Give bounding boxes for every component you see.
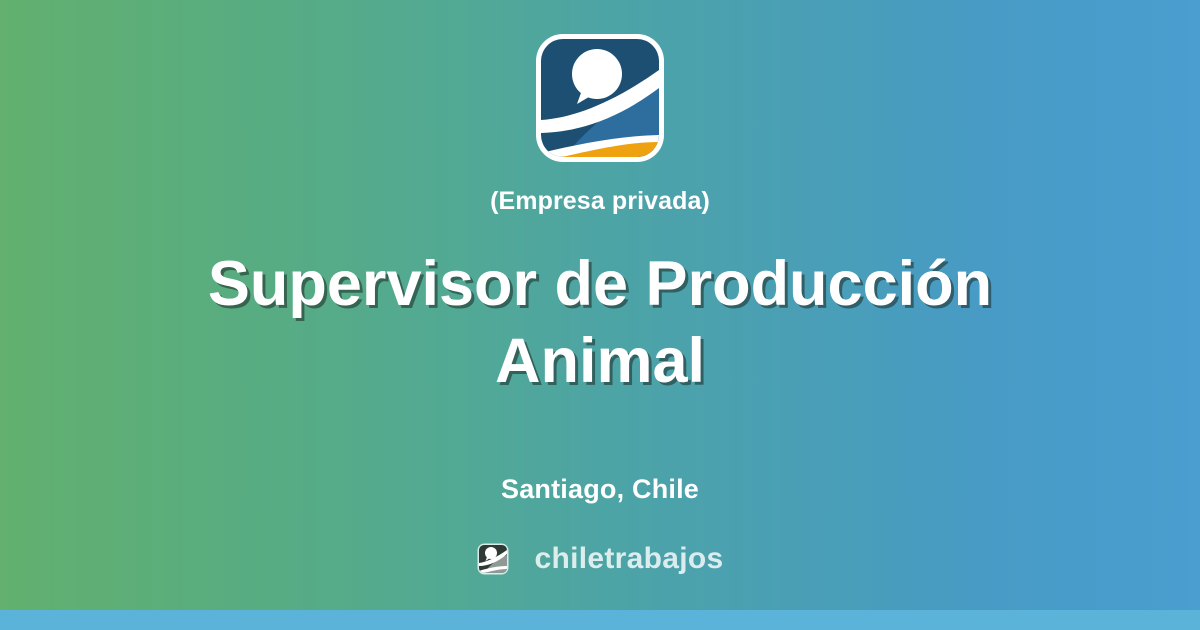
job-share-card: (Empresa privada) Supervisor de Producci…	[0, 0, 1200, 630]
site-brand: chiletrabajos	[477, 543, 724, 575]
brand-name-label: chiletrabajos	[535, 544, 724, 574]
chiletrabajos-wordmark-icon	[477, 543, 509, 575]
company-logo	[534, 32, 666, 164]
job-location: Santiago, Chile	[501, 474, 699, 505]
chiletrabajos-app-logo-icon	[534, 32, 666, 164]
job-title: Supervisor de Producción Animal	[90, 246, 1110, 400]
bottom-accent-bar	[0, 610, 1200, 630]
employer-label: (Empresa privada)	[490, 186, 710, 216]
